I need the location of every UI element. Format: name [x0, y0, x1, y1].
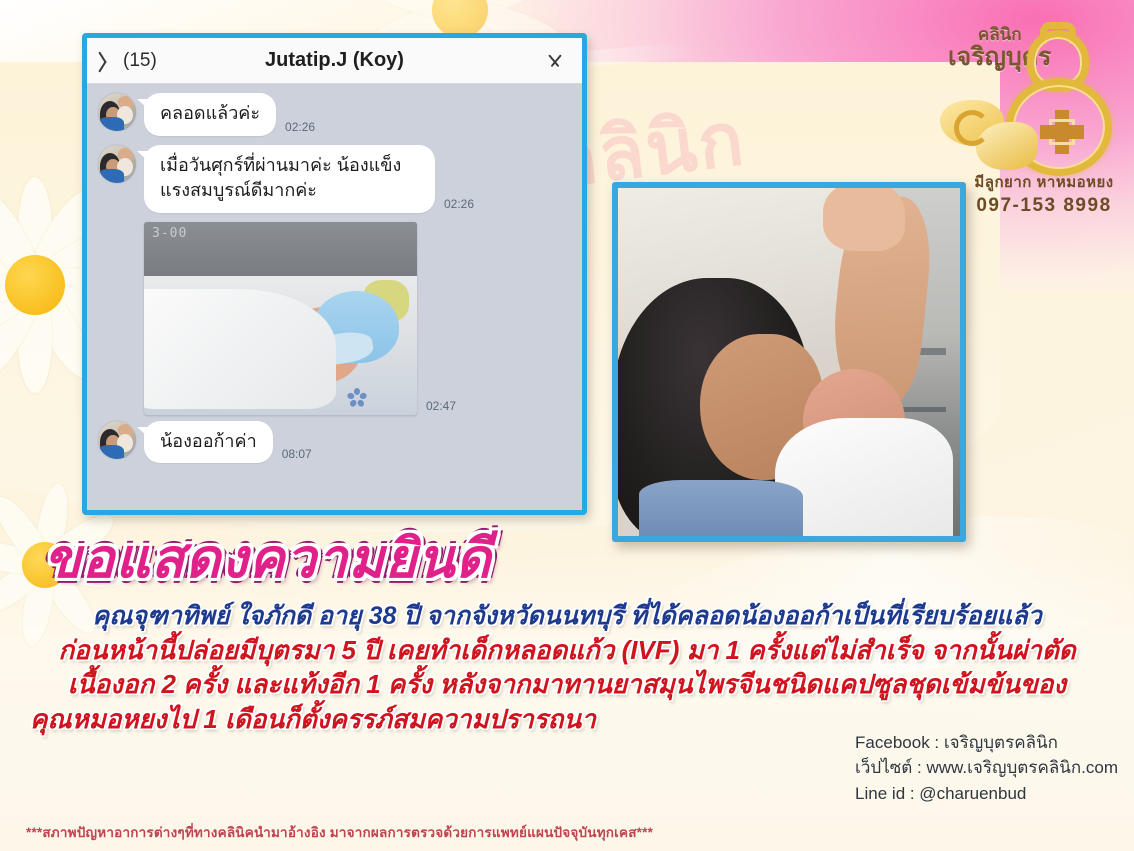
avatar	[98, 421, 136, 459]
photo-id-label: 3-00	[152, 226, 187, 241]
message-bubble: เมื่อวันศุกร์ที่ผ่านมาค่ะ น้องแข็งแรงสมบ…	[144, 145, 435, 213]
auspicious-cloud-icon	[940, 90, 1060, 176]
message-timestamp: 08:07	[282, 447, 312, 461]
story-line-3: เนื้องอก 2 ครั้ง และแท้งอีก 1 ครั้ง หลัง…	[0, 667, 1134, 701]
back-chevron-icon[interactable]	[101, 50, 114, 72]
chat-screenshot-window: (15) Jutatip.J (Koy) คลอดแล้วค่ะ 02:26	[82, 33, 587, 515]
clinic-phone: 097-153 8998	[960, 195, 1128, 217]
chat-header: (15) Jutatip.J (Koy)	[87, 38, 582, 84]
contact-website[interactable]: เว็ปไซต์ : www.เจริญบุตรคลินิก.com	[855, 755, 1118, 781]
contact-facebook[interactable]: Facebook : เจริญบุตรคลินิก	[855, 730, 1118, 756]
message-timestamp: 02:47	[426, 399, 456, 413]
avatar	[98, 145, 136, 183]
disclaimer-text: ***สภาพปัญหาอาการต่างๆที่ทางคลินิคนำมาอ้…	[26, 821, 653, 843]
message-timestamp: 02:26	[444, 197, 474, 211]
mother-and-baby-photo	[612, 182, 966, 542]
message-bubble: คลอดแล้วค่ะ	[144, 93, 276, 136]
clinic-tagline-block: มีลูกยาก หาหมอหยง 097-153 8998	[960, 170, 1128, 217]
chat-message-photo: 3-00 02:47	[144, 222, 582, 415]
unread-count-label: (15)	[123, 50, 157, 72]
poster-canvas: เจริญบุตรคลินิก ยากมีลูก (15) Jutatip.J …	[0, 0, 1134, 851]
chat-title: Jutatip.J (Koy)	[87, 49, 582, 72]
chat-message-list[interactable]: คลอดแล้วค่ะ 02:26 เมื่อวันศุกร์ที่ผ่านมา…	[87, 84, 582, 515]
story-paragraph: คุณจุฑาทิพย์ ใจภักดี อายุ 38 ปี จากจังหว…	[0, 600, 1134, 736]
chevron-down-icon[interactable]	[542, 53, 568, 69]
message-bubble: น้องออก้าค่า	[144, 421, 273, 464]
congratulations-headline: ขอแสดงความยินดี	[44, 532, 492, 586]
story-line-1: คุณจุฑาทิพย์ ใจภักดี อายุ 38 ปี จากจังหว…	[0, 600, 1134, 633]
chat-message: น้องออก้าค่า 08:07	[98, 421, 582, 464]
chat-message: คลอดแล้วค่ะ 02:26	[98, 93, 582, 136]
flower-sticker-icon	[349, 391, 365, 407]
clinic-tagline: มีลูกยาก หาหมอหยง	[960, 170, 1128, 194]
message-timestamp: 02:26	[285, 120, 315, 134]
baby-photo-thumbnail[interactable]: 3-00	[144, 222, 417, 415]
avatar	[98, 93, 136, 131]
contact-block: Facebook : เจริญบุตรคลินิก เว็ปไซต์ : ww…	[855, 730, 1118, 807]
story-line-2: ก่อนหน้านี้ปล่อยมีบุตรมา 5 ปี เคยทำเด็กห…	[0, 633, 1134, 667]
chat-message: เมื่อวันศุกร์ที่ผ่านมาค่ะ น้องแข็งแรงสมบ…	[98, 145, 582, 213]
contact-line-id[interactable]: Line id : @charuenbud	[855, 781, 1118, 807]
